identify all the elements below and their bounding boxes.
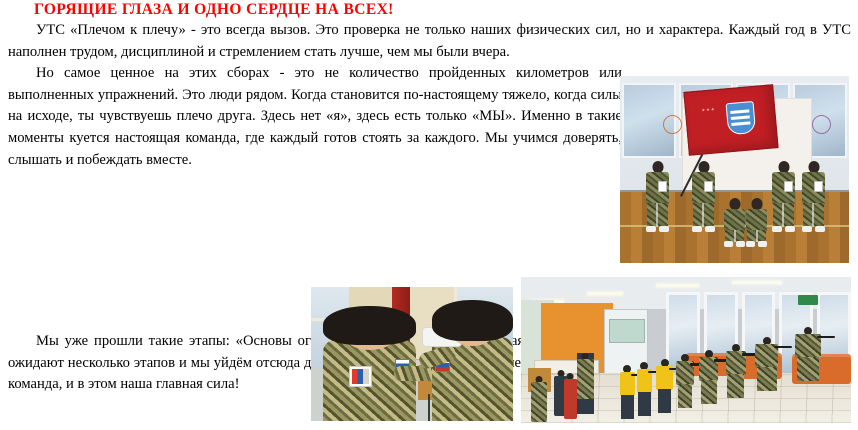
cadet-girl-right (432, 300, 513, 421)
cadet-girl-left (323, 306, 416, 421)
shooter-yellow (620, 365, 635, 418)
ceiling-lamp (587, 292, 623, 295)
paragraph-1: УТС «Плечом к плечу» - это всегда вызов.… (8, 20, 851, 63)
shooter-camo (795, 327, 821, 418)
cadet-seated (724, 198, 745, 248)
cadet-standing (646, 161, 669, 233)
cadet-standing (772, 161, 795, 233)
photo-flag-group: ТРУД СЕМЬЯ РОССИЯ ЛЮБОВЬ РАЗВИТИЕ ★ ★ ★ (620, 76, 849, 263)
flag-inscription: ★ ★ ★ (693, 107, 723, 114)
name-tag (349, 366, 371, 388)
shooter-camo (676, 354, 694, 417)
ceiling-lamp (656, 284, 699, 287)
shooter-camo (726, 344, 746, 417)
seated-officer (531, 376, 548, 414)
red-flag: ★ ★ ★ (683, 84, 778, 156)
banner-logo-left-icon (663, 115, 682, 134)
cadet-standing (692, 161, 715, 233)
document-page: ГОРЯЩИЕ ГЛАЗА И ОДНО СЕРДЦЕ НА ВСЕХ! УТС… (0, 0, 858, 430)
cadet-standing (802, 161, 825, 233)
page-title: ГОРЯЩИЕ ГЛАЗА И ОДНО СЕРДЦЕ НА ВСЕХ! (34, 1, 634, 19)
person-standing (564, 373, 577, 414)
ceiling-lamp (732, 281, 782, 284)
exit-sign-icon (798, 295, 818, 305)
photo-firing-line (521, 277, 851, 423)
shooter-camo (699, 350, 718, 417)
photo-bandaging (311, 287, 513, 421)
banner-logo-right-icon (812, 115, 831, 134)
instructor-standing (577, 353, 594, 414)
shooter-yellow (637, 362, 653, 417)
shooter-yellow (656, 359, 673, 417)
flag-emblem-icon (726, 101, 757, 135)
cadet-seated (746, 198, 767, 248)
chair-leg (428, 394, 430, 421)
shooter-camo (755, 337, 778, 417)
